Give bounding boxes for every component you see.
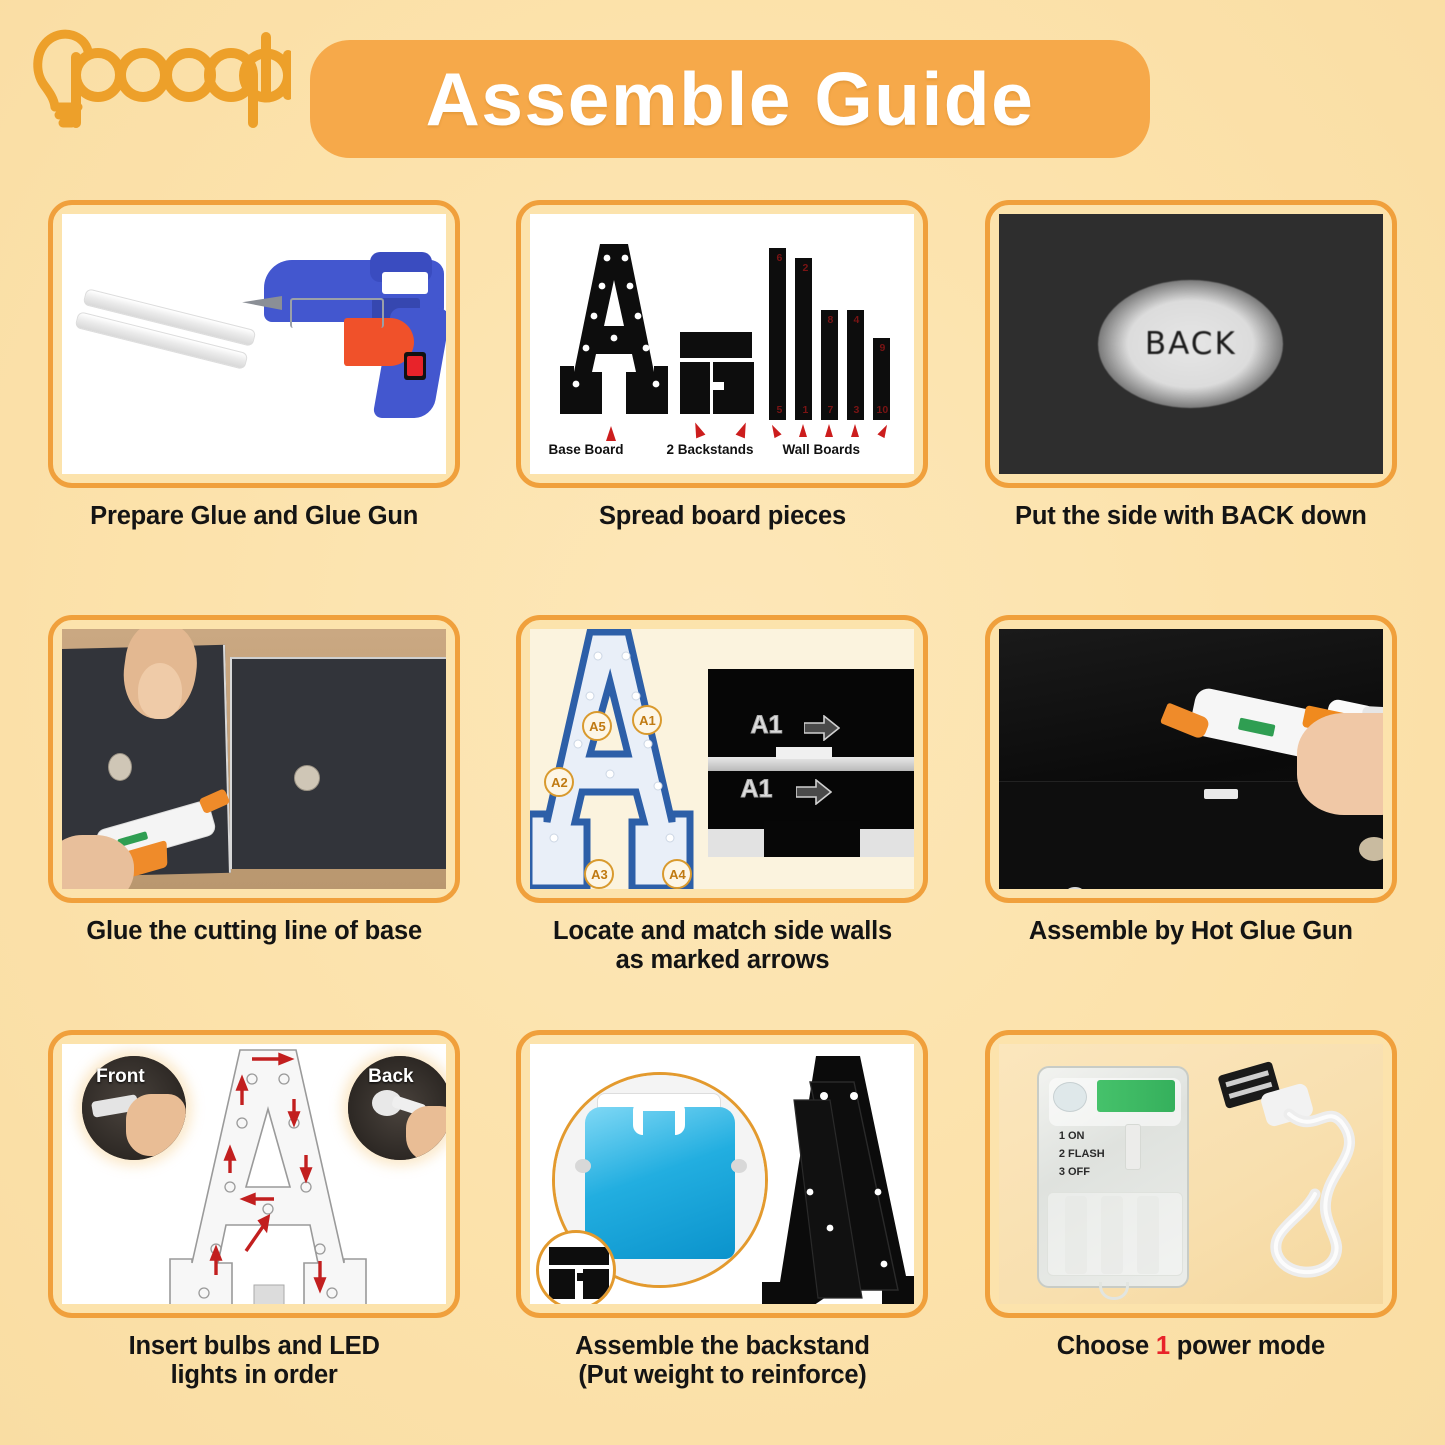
arrow-icon [825,424,833,437]
gluing-base-photo [62,629,446,889]
circuit-board [1097,1080,1175,1112]
step-card-6: Assemble by Hot Glue Gun [957,615,1425,1030]
wall-board-number: 9 [879,342,885,354]
power-mode-flash: 2 FLASH [1059,1148,1105,1160]
step-9-frame: 1 ON 2 FLASH 3 OFF [985,1030,1397,1318]
wall-board-number: 10 [876,404,888,416]
step-4-caption: Glue the cutting line of base [39,917,469,946]
back-marker-text: BACK [1145,326,1237,362]
step-8-frame [516,1030,928,1318]
bulb-insertion-diagram: Front Back [62,1044,446,1304]
step-1-frame [48,200,460,488]
step-9-caption-highlight: 1 [1156,1332,1170,1360]
fingertip [138,663,182,719]
arrow-icon [878,423,891,438]
step-7-caption-line2: lights in order [39,1361,469,1390]
glue-bead [1204,789,1238,799]
arrow-icon [606,426,616,441]
bulb-hole [294,765,320,791]
assemble-guide-page: pooqla Assemble Guide [0,0,1445,1445]
light-glow: BACK [1098,280,1283,408]
wall-alignment-photo: A1 A1 [708,669,914,857]
wall-board [769,248,786,420]
page-header: pooqla Assemble Guide [0,0,1445,190]
arrow-icon [769,423,782,438]
power-mode-off: 3 OFF [1059,1166,1090,1178]
back-label: Back [368,1066,413,1088]
step-2-frame: Base Board 2 Backstands 6 5 [516,200,928,488]
backstand-assembly-photo [530,1044,914,1304]
step-7-frame: Front Back [48,1030,460,1318]
steps-grid: Prepare Glue and Glue Gun [0,200,1445,1445]
arrow-right-icon [796,779,832,805]
page-title: Assemble Guide [426,62,1035,137]
lightbulb-icon [26,23,291,131]
step-5-frame: A5 A1 A2 A3 A4 A1 A1 [516,615,928,903]
step-7-caption-line1: Insert bulbs and LED [39,1332,469,1361]
a1-tag: A1 [740,775,772,804]
step-9-caption-suffix: power mode [1170,1332,1325,1360]
dark-backdrop: BACK [999,214,1383,474]
step-6-caption: Assemble by Hot Glue Gun [976,917,1406,946]
switch-knob [1053,1082,1087,1112]
page-title-pill: Assemble Guide [310,40,1150,158]
glue-gun-icon [252,240,446,430]
arrow-icon [851,424,859,437]
arrow-icon [691,421,706,439]
step-9-caption-prefix: Choose [1057,1332,1156,1360]
step-8-caption-line2: (Put weight to reinforce) [507,1361,937,1390]
wall-board-number: 7 [827,404,833,416]
base-board-label: Base Board [548,442,623,457]
bulb-hole [108,753,132,781]
backstand-piece [680,362,710,414]
a1-tag: A1 [750,711,782,740]
back-side-photo: BACK [999,214,1383,474]
step-8-caption-line1: Assemble the backstand [507,1332,937,1361]
power-mode-on: 1 ON [1059,1130,1085,1142]
step-5-caption: Locate and match side walls as marked ar… [507,917,937,975]
battery-box: 1 ON 2 FLASH 3 OFF [1037,1066,1189,1288]
step-3-frame: BACK [985,200,1397,488]
wall-board-number: 8 [827,314,833,326]
board-pieces-diagram: Base Board 2 Backstands 6 5 [530,214,914,474]
wall-board-number: 4 [853,314,859,326]
arrow-icon [736,421,751,439]
wall-board-number: 5 [776,404,782,416]
backstands-label: 2 Backstands [666,442,753,457]
base-board-right [230,657,446,869]
step-6-frame [985,615,1397,903]
step-5-caption-line2: as marked arrows [507,946,937,975]
base-board-letter-a [558,244,668,424]
usb-cable-icon [1211,1062,1383,1292]
step-4-frame [48,615,460,903]
arrow-right-icon [804,715,840,741]
step-card-4: Glue the cutting line of base [20,615,488,1030]
glue-gun-and-sticks-photo [62,214,446,474]
step-5-caption-line1: Locate and match side walls [507,917,937,946]
step-card-1: Prepare Glue and Glue Gun [20,200,488,615]
wall-board [795,258,812,420]
wall-board-number: 6 [776,252,782,264]
step-card-9: 1 ON 2 FLASH 3 OFF [957,1030,1425,1445]
side-wall-matching-diagram: A5 A1 A2 A3 A4 A1 A1 [530,629,914,889]
letter-a-outline [530,629,694,889]
step-card-2: Base Board 2 Backstands 6 5 [488,200,956,615]
arrow-icon [799,424,807,437]
brand-logo: pooqla [26,22,291,132]
step-8-caption: Assemble the backstand (Put weight to re… [507,1332,937,1390]
step-2-caption: Spread board pieces [507,502,937,531]
bulb-cap [1359,837,1383,861]
step-card-8: Assemble the backstand (Put weight to re… [488,1030,956,1445]
wall-boards-label: Wall Boards [782,442,860,457]
step-1-caption: Prepare Glue and Glue Gun [39,502,469,531]
backstand-piece-inset [536,1230,616,1304]
step-3-caption: Put the side with BACK down [976,502,1406,531]
backstand-piece [724,362,754,414]
step-card-7: Front Back Insert bulbs and LED lights i… [20,1030,488,1445]
step-card-3: BACK Put the side with BACK down [957,200,1425,615]
backstand-piece [724,332,752,358]
front-label: Front [96,1066,145,1088]
wall-board-number: 1 [802,404,808,416]
step-7-caption: Insert bulbs and LED lights in order [39,1332,469,1390]
hand-icon [1297,713,1383,815]
letter-a-bulb-map [168,1047,368,1304]
wall-board-number: 3 [853,404,859,416]
assembled-backstand [758,1052,914,1304]
hot-glue-assembly-photo [999,629,1383,889]
step-card-5: A5 A1 A2 A3 A4 A1 A1 [488,615,956,1030]
battery-box-and-usb-photo: 1 ON 2 FLASH 3 OFF [999,1044,1383,1304]
step-9-caption: Choose 1 power mode [976,1332,1406,1361]
wall-board-number: 2 [802,262,808,274]
